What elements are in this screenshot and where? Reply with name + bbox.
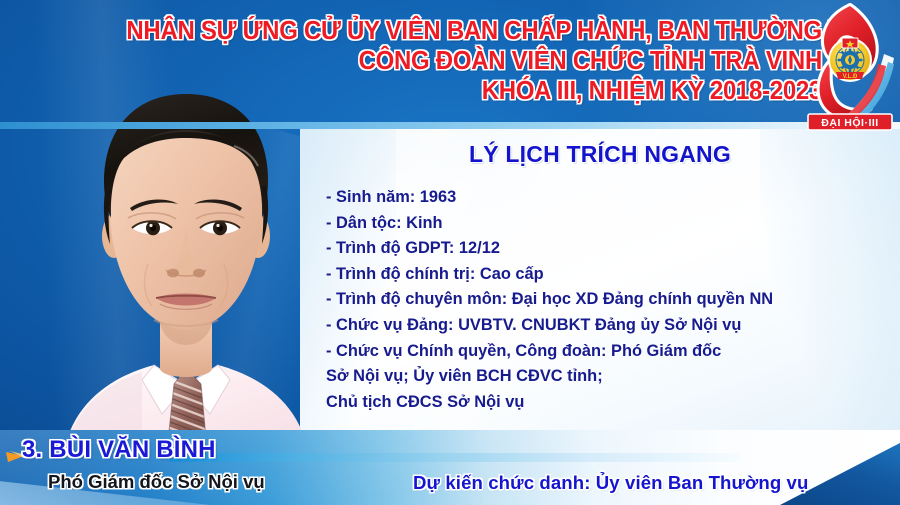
footer-bar: 3. BÙI VĂN BÌNH Phó Giám đốc Sở Nội vụ D… xyxy=(0,430,900,505)
header-titles: NHÂN SỰ ỨNG CỬ ỦY VIÊN BAN CHẤP HÀNH, BA… xyxy=(82,16,822,106)
bio-line: - Sinh năm: 1963 xyxy=(326,185,892,211)
bio-line: - Trình độ chính trị: Cao cấp xyxy=(326,262,892,288)
header-line-3: KHÓA III, NHIỆM KỲ 2018-2023 xyxy=(126,76,822,106)
bio-line: - Chức vụ Chính quyền, Công đoàn: Phó Gi… xyxy=(326,339,892,365)
candidate-role: Phó Giám đốc Sở Nội vụ xyxy=(48,471,265,493)
bio-line: Sở Nội vụ; Ủy viên BCH CĐVC tỉnh; xyxy=(326,364,892,390)
header-line-1: NHÂN SỰ ỨNG CỬ ỦY VIÊN BAN CHẤP HÀNH, BA… xyxy=(126,16,822,46)
slide-root: NHÂN SỰ ỨNG CỬ ỦY VIÊN BAN CHẤP HÀNH, BA… xyxy=(0,0,900,505)
candidate-name: 3. BÙI VĂN BÌNH xyxy=(22,436,216,464)
bio-line: - Trình độ GDPT: 12/12 xyxy=(326,236,892,262)
svg-text:V.L.Đ: V.L.Đ xyxy=(843,74,858,80)
biography-list: - Sinh năm: 1963 - Dân tộc: Kinh - Trình… xyxy=(326,185,892,415)
panel-title: LÝ LỊCH TRÍCH NGANG xyxy=(300,141,900,168)
header-line-2: CÔNG ĐOÀN VIÊN CHỨC TỈNH TRÀ VINH xyxy=(126,46,822,76)
bio-line: Chủ tịch CĐCS Sở Nội vụ xyxy=(326,390,892,416)
header-divider-rule xyxy=(0,122,900,129)
bio-line: - Trình độ chuyên môn: Đại học XD Đảng c… xyxy=(326,287,892,313)
bio-line: - Dân tộc: Kinh xyxy=(326,211,892,237)
bio-line: - Chức vụ Đảng: UVBTV. CNUBKT Đảng ủy Sở… xyxy=(326,313,892,339)
emblem-caption: ĐẠI HỘI·III xyxy=(821,116,878,129)
dai-hoi-iii-emblem-icon: V.L.Đ ĐẠI HỘI·III xyxy=(800,2,896,134)
biography-panel: LÝ LỊCH TRÍCH NGANG - Sinh năm: 1963 - D… xyxy=(300,129,900,459)
footer-name-rule xyxy=(170,453,740,462)
header: NHÂN SỰ ỨNG CỬ ỦY VIÊN BAN CHẤP HÀNH, BA… xyxy=(0,0,900,128)
expected-position: Dự kiến chức danh: Ủy viên Ban Thường vụ xyxy=(413,472,808,494)
